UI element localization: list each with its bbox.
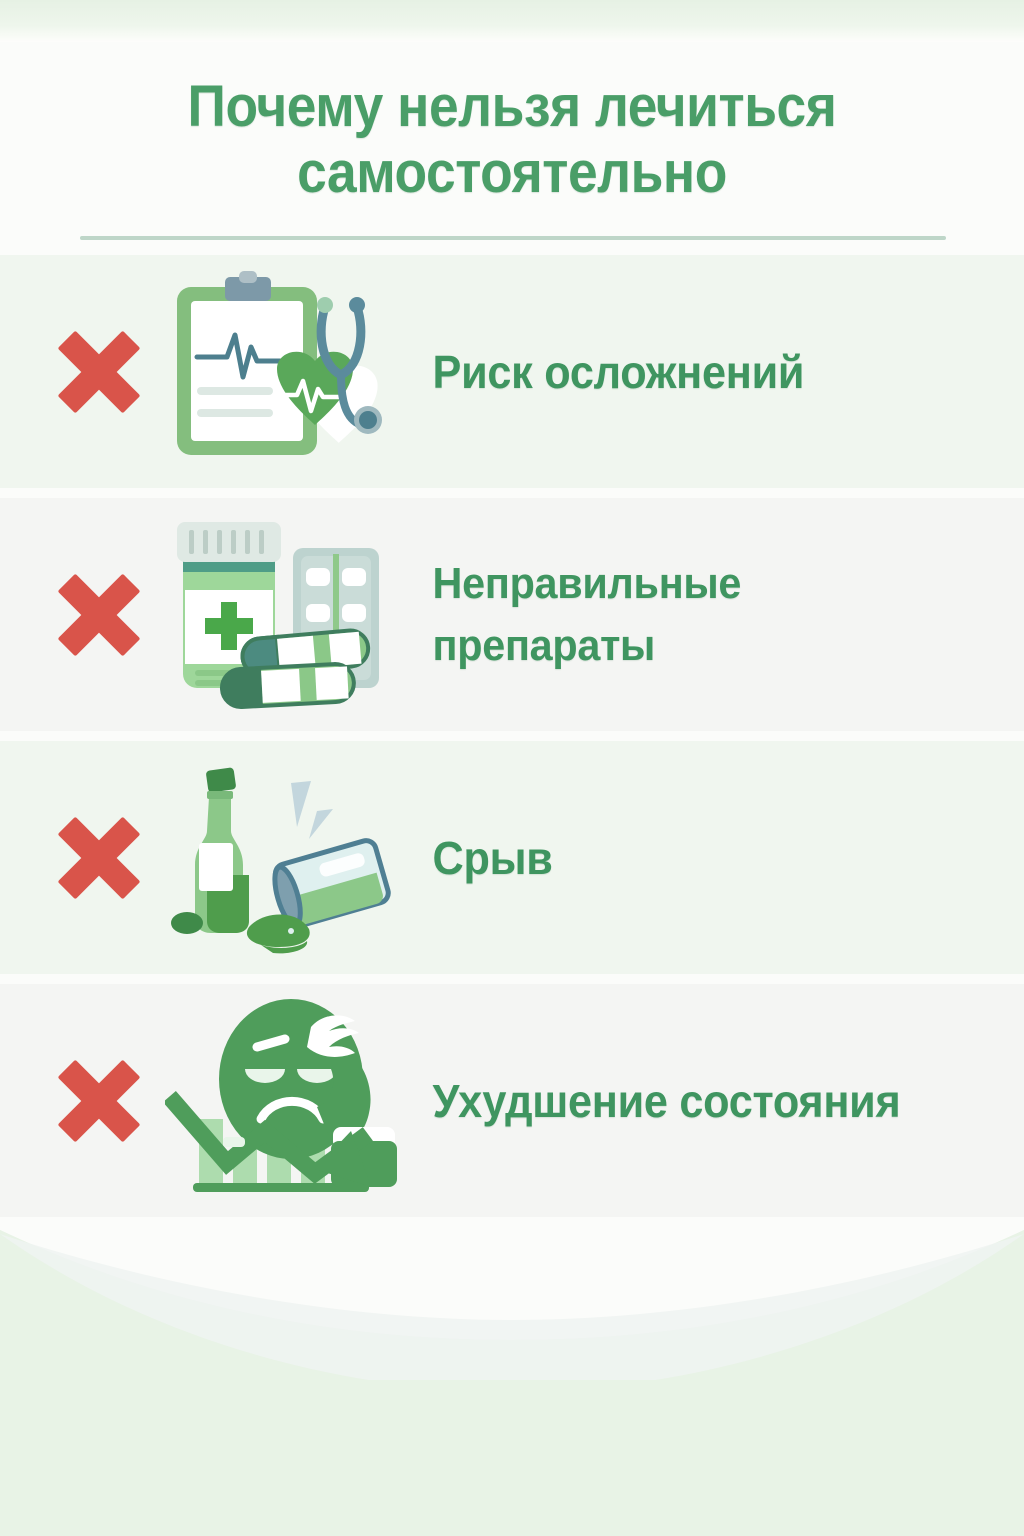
list-item-label-line-1: Неправильные xyxy=(433,559,742,608)
list-item-relapse: Срыв xyxy=(0,741,1024,974)
list-item-worsening-condition: Ухудшение состояния xyxy=(0,984,1024,1217)
list-item-label: Срыв xyxy=(410,830,987,886)
red-x-mark-icon xyxy=(44,317,154,427)
red-x-mark-icon xyxy=(44,1046,154,1156)
infographic-poster: Почему нельзя лечиться самостоятельно xyxy=(0,0,1024,1536)
list-item-label: Неправильные препараты xyxy=(410,553,987,677)
red-x-mark-icon xyxy=(44,560,154,670)
list-item-label: Ухудшение состояния xyxy=(410,1073,987,1129)
title-divider xyxy=(80,236,946,240)
reasons-list: Риск осложнений xyxy=(0,255,1024,1227)
list-item-label: Риск осложнений xyxy=(410,344,987,400)
pill-bottle-blister-capsules-icon xyxy=(160,507,410,722)
list-item-label-line-2: препараты xyxy=(433,621,656,670)
list-item-wrong-medications: Неправильные препараты xyxy=(0,498,1024,731)
page-title-line-2: самостоятельно xyxy=(297,140,727,205)
page-title: Почему нельзя лечиться самостоятельно xyxy=(98,74,926,206)
clipboard-heart-stethoscope-icon xyxy=(160,264,410,479)
list-item-risk-of-complications: Риск осложнений xyxy=(0,255,1024,488)
bottle-spilled-glass-icon xyxy=(160,750,410,965)
poster-header: Почему нельзя лечиться самостоятельно xyxy=(0,0,1024,255)
bottom-wave-decoration xyxy=(0,1200,1024,1380)
red-x-mark-icon xyxy=(44,803,154,913)
sad-face-declining-chart-icon xyxy=(160,993,410,1208)
page-title-line-1: Почему нельзя лечиться xyxy=(188,74,837,139)
